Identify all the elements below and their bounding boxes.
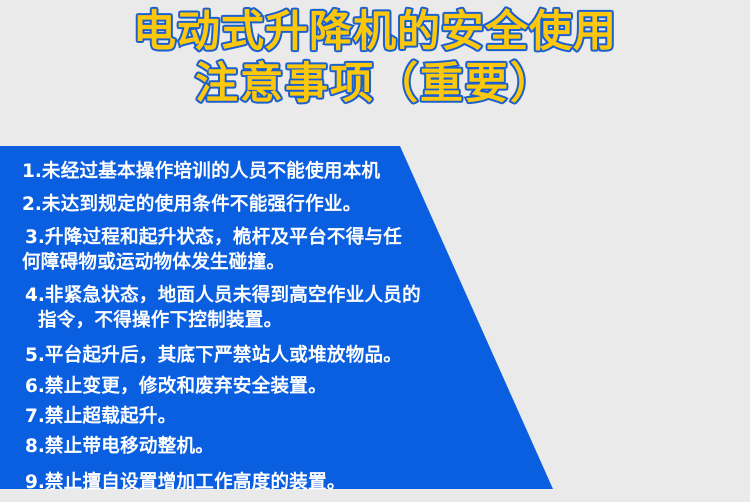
rule-text: 禁止超载起升。 (45, 406, 177, 427)
rule-item: 3.升降过程和起升状态，桅杆及平台不得与任 何障碍物或运动物体发生碰撞。 (0, 225, 520, 275)
rule-number: 1. (22, 161, 42, 182)
rule-item: 6.禁止变更，修改和废弃安全装置。 (0, 374, 520, 399)
rule-number: 7. (25, 406, 45, 427)
rule-number: 5. (25, 345, 45, 366)
rule-text: 非紧急状态，地面人员未得到高空作业人员的 指令，不得操作下控制装置。 (38, 285, 421, 331)
rule-number: 9. (25, 472, 45, 493)
rule-text: 禁止变更，修改和废弃安全装置。 (45, 376, 327, 397)
rule-text: 禁止擅自设置增加工作高度的装置。 (45, 472, 346, 493)
rule-number: 2. (22, 194, 42, 215)
rule-number: 3. (25, 227, 45, 248)
poster-title-line-2: 注意事项（重要） (0, 58, 750, 110)
rule-number: 4. (25, 285, 45, 306)
rule-number: 6. (25, 376, 45, 397)
poster-title-line-1: 电动式升降机的安全使用 (0, 6, 750, 58)
rule-text: 禁止带电移动整机。 (45, 436, 214, 457)
rule-item: 5.平台起升后，其底下严禁站人或堆放物品。 (0, 343, 520, 368)
safety-rules-list: 1.未经过基本操作培训的人员不能使用本机 2.未达到规定的使用条件不能强行作业。… (0, 146, 520, 489)
rule-text: 升降过程和起升状态，桅杆及平台不得与任 何障碍物或运动物体发生碰撞。 (22, 227, 402, 273)
rule-item: 9.禁止擅自设置增加工作高度的装置。 (0, 470, 520, 495)
rule-number: 8. (25, 436, 45, 457)
rule-item: 8.禁止带电移动整机。 (0, 434, 520, 459)
rule-text: 平台起升后，其底下严禁站人或堆放物品。 (45, 345, 402, 366)
poster-title: 电动式升降机的安全使用 注意事项（重要） (0, 6, 750, 110)
rule-text: 未达到规定的使用条件不能强行作业。 (42, 194, 362, 215)
rule-text: 未经过基本操作培训的人员不能使用本机 (42, 161, 380, 182)
rule-item: 1.未经过基本操作培训的人员不能使用本机 (0, 159, 520, 184)
rule-item: 2.未达到规定的使用条件不能强行作业。 (0, 192, 520, 217)
rule-item: 7.禁止超载起升。 (0, 404, 520, 429)
safety-notice-poster: 电动式升降机的安全使用 注意事项（重要） 1.未经过基本操作培训的人员不能使用本… (0, 0, 750, 502)
rule-item: 4.非紧急状态，地面人员未得到高空作业人员的 指令，不得操作下控制装置。 (0, 283, 520, 333)
